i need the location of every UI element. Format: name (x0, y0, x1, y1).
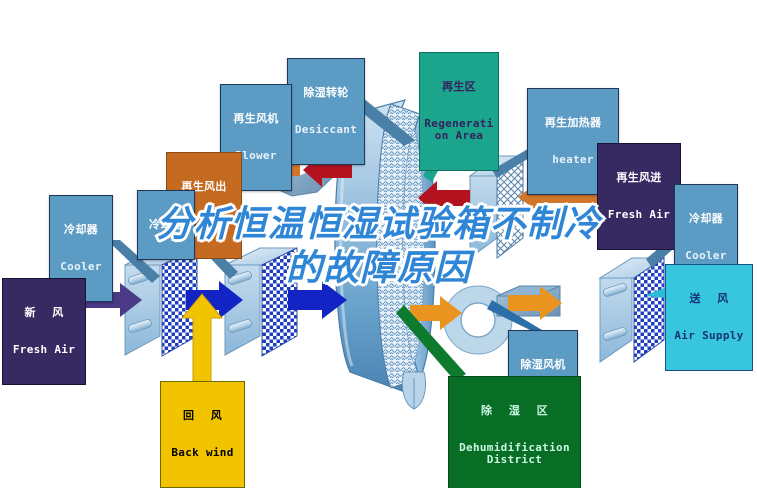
label-dehumid-blower-cn: 除湿风机 (511, 359, 575, 371)
label-cooler-left-1-cn: 冷却器 (52, 224, 110, 236)
label-regeneration-area-en: Regenerati on Area (422, 118, 496, 143)
supply-cooling-coil (600, 258, 664, 362)
label-desiccant-wheel-en: Desiccant (290, 124, 362, 136)
label-fresh-air-regen-en: Fresh Air (600, 209, 678, 221)
label-regen-blower-cn: 再生风机 (223, 113, 289, 125)
label-fresh-air-regen[interactable]: 再生风进 Fresh Air (597, 143, 681, 250)
label-back-wind[interactable]: 回 风 Back wind (160, 381, 245, 488)
label-dehumidification-district-en: Dehumidification District (451, 442, 578, 467)
label-fresh-air-left[interactable]: 新 风 Fresh Air (2, 278, 86, 385)
label-fresh-air-left-en: Fresh Air (5, 344, 83, 356)
label-back-wind-cn: 回 风 (163, 410, 242, 422)
label-cooler-right-cn: 冷却器 (677, 213, 735, 225)
label-air-supply-en: Air Supply (668, 330, 750, 342)
label-cooler-right-en: Cooler (677, 250, 735, 262)
label-dehumidification-district[interactable]: 除 湿 区 Dehumidification District (448, 376, 581, 488)
label-cooler-left-2-cn: 冷却器 (140, 219, 192, 231)
label-cooler-left-1-en: Cooler (52, 261, 110, 273)
label-desiccant-wheel[interactable]: 除湿转轮 Desiccant (287, 58, 365, 165)
label-regen-heater-cn: 再生加热器 (530, 117, 616, 129)
label-regeneration-area[interactable]: 再生区 Regenerati on Area (419, 52, 499, 171)
label-cooler-left-2[interactable]: 冷却器 (137, 190, 195, 260)
label-dehumidification-district-cn: 除 湿 区 (451, 405, 578, 417)
label-desiccant-wheel-cn: 除湿转轮 (290, 87, 362, 99)
label-air-supply-cn: 送 风 (668, 293, 750, 305)
label-air-supply[interactable]: 送 风 Air Supply (665, 264, 753, 371)
label-fresh-air-left-cn: 新 风 (5, 307, 83, 319)
label-back-wind-en: Back wind (163, 447, 242, 459)
diagram-canvas: 除湿转轮 Desiccant 再生风机 Blower 再生区 Regenerat… (0, 0, 757, 488)
label-fresh-air-regen-cn: 再生风进 (600, 172, 678, 184)
label-regeneration-area-cn: 再生区 (422, 81, 496, 93)
